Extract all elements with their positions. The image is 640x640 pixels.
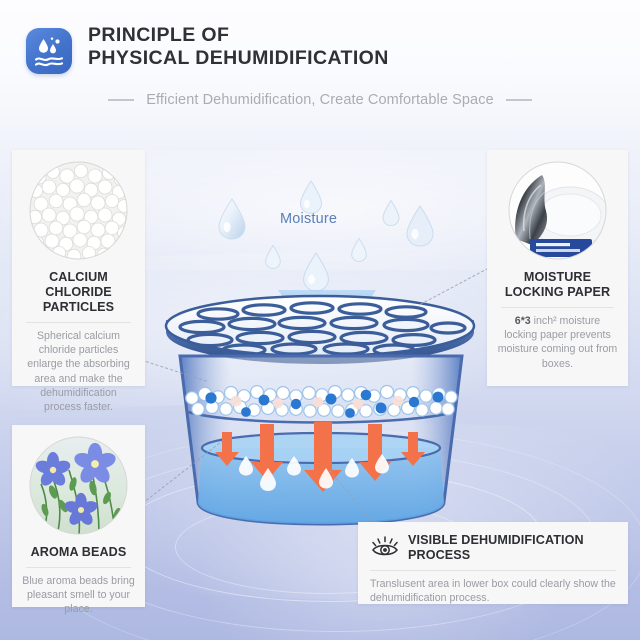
water-drop-icon [349, 236, 369, 264]
dash-right [506, 99, 532, 101]
subtitle-text: Efficient Dehumidification, Create Comfo… [146, 92, 493, 108]
visible-process-header: VISIBLE DEHUMIDIFICATION PROCESS [358, 522, 628, 563]
card-visible-process[interactable]: VISIBLE DEHUMIDIFICATION PROCESS Translu… [358, 522, 628, 604]
eye-icon [370, 534, 400, 563]
title-line-2: PHYSICAL DEHUMIDIFICATION [88, 47, 389, 70]
card-title-moisture-paper: MOISTURE LOCKING PAPER [487, 270, 628, 300]
water-drop-icon [403, 203, 437, 249]
aroma-flower-photo [29, 436, 128, 535]
card-description-aroma-beads: Blue aroma beads bring pleasant smell to… [12, 568, 145, 617]
moisture-locking-paper-photo [508, 161, 607, 260]
title-line-1: PRINCIPLE OF [88, 24, 389, 47]
dash-left [108, 99, 134, 101]
page-title: PRINCIPLE OF PHYSICAL DEHUMIDIFICATION [88, 24, 389, 70]
card-aroma-beads[interactable]: AROMA BEADS Blue aroma beads bring pleas… [12, 425, 145, 607]
card-calcium-chloride[interactable]: CALCIUM CHLORIDE PARTICLES Spherical cal… [12, 150, 145, 386]
card-title-visible-process: VISIBLE DEHUMIDIFICATION PROCESS [408, 533, 616, 563]
water-drop-icon [215, 196, 249, 242]
card-description-calcium-chloride: Spherical calcium chloride particles enl… [12, 323, 145, 414]
moisture-label: Moisture [280, 211, 337, 227]
card-description-visible-process: Translusent area in lower box could clea… [358, 571, 628, 605]
card-title-aroma-beads: AROMA BEADS [12, 545, 145, 560]
paper-size-value: 6*3 [515, 315, 531, 327]
water-drop-icon [380, 198, 402, 228]
infographic-page: PRINCIPLE OF PHYSICAL DEHUMIDIFICATION E… [0, 0, 640, 640]
calcium-chloride-particles-photo [29, 161, 128, 260]
card-moisture-locking-paper[interactable]: MOISTURE LOCKING PAPER 6*3 inch² moistur… [487, 150, 628, 386]
subtitle-row: Efficient Dehumidification, Create Comfo… [0, 92, 640, 108]
water-drop-wave-icon [26, 28, 72, 74]
header: PRINCIPLE OF PHYSICAL DEHUMIDIFICATION E… [0, 0, 640, 130]
card-title-calcium-chloride: CALCIUM CHLORIDE PARTICLES [12, 270, 145, 315]
water-drop-icon [263, 243, 283, 271]
card-description-moisture-paper: 6*3 inch² moisture locking paper prevent… [487, 308, 628, 371]
